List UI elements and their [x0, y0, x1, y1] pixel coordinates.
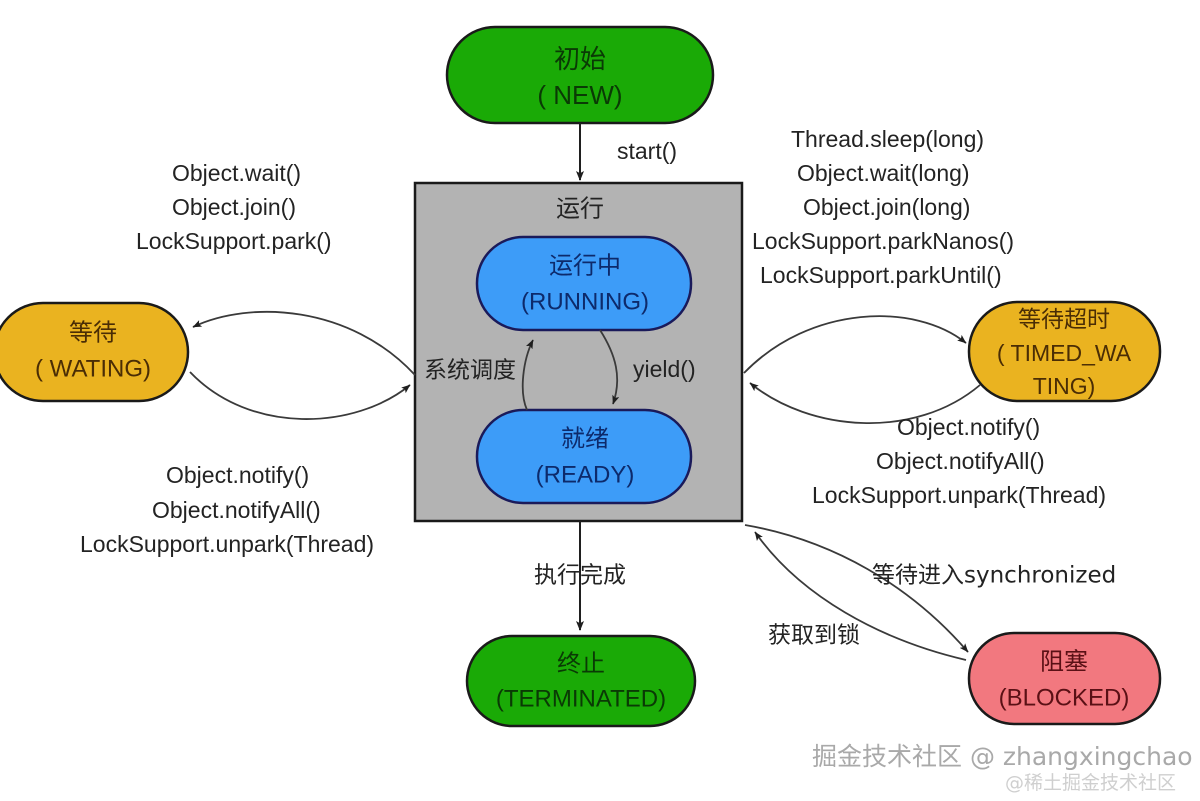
node-terminated[interactable]: 终止 (TERMINATED) [467, 636, 695, 726]
watermark-primary: 掘金技术社区 @ zhangxingchao [812, 742, 1193, 771]
edge-to-timed-label-5: LockSupport.parkUntil() [760, 262, 1002, 288]
edge-scheduler-label: 系统调度 [424, 358, 516, 384]
edge-from-timed-label-2: Object.notifyAll() [876, 448, 1045, 474]
node-blocked[interactable]: 阻塞 (BLOCKED) [969, 633, 1160, 724]
edge-from-waiting-label-3: LockSupport.unpark(Thread) [80, 531, 374, 557]
edge-start: start() [580, 123, 677, 180]
node-ready[interactable]: 就绪 (READY) [477, 410, 691, 503]
edge-to-waiting-label-1: Object.wait() [172, 160, 301, 186]
node-timed-waiting[interactable]: 等待超时 ( TIMED_WA TING) [969, 302, 1160, 401]
edge-to-waiting-path [193, 312, 415, 375]
edge-from-timed-label-1: Object.notify() [897, 414, 1040, 440]
node-running[interactable]: 运行中 (RUNNING) [477, 237, 691, 330]
node-new-shape [447, 27, 713, 123]
edge-finish: 执行完成 [534, 521, 626, 630]
edge-to-waiting-label-3: LockSupport.park() [136, 228, 332, 254]
edge-finish-label: 执行完成 [534, 563, 626, 589]
node-new[interactable]: 初始 ( NEW) [447, 27, 713, 123]
node-timed-waiting-shape [969, 302, 1160, 401]
edge-from-waiting-path [190, 372, 410, 419]
edge-to-timed-label-2: Object.wait(long) [797, 160, 970, 186]
edge-from-blocked-label: 获取到锁 [768, 623, 860, 649]
edge-to-timed-label-3: Object.join(long) [803, 194, 970, 220]
edge-from-waiting-label-2: Object.notifyAll() [152, 497, 321, 523]
edge-yield-label: yield() [633, 356, 696, 382]
edge-to-blocked-label: 等待进入synchronized [872, 563, 1116, 589]
edge-to-timed-waiting-path [744, 316, 966, 373]
watermark-secondary: @稀土掘金技术社区 [1005, 772, 1176, 794]
edge-to-waiting-label-2: Object.join() [172, 194, 296, 220]
diagram-canvas: 初始 ( NEW) start() 运行 运行中 (RUNNING) 就绪 (R… [0, 0, 1200, 801]
thread-state-diagram: 初始 ( NEW) start() 运行 运行中 (RUNNING) 就绪 (R… [0, 0, 1200, 801]
node-ready-shape [477, 410, 691, 503]
edge-to-timed-label-4: LockSupport.parkNanos() [752, 228, 1014, 254]
edge-to-timed-label-1: Thread.sleep(long) [791, 126, 984, 152]
edge-from-blocked: 获取到锁 [755, 532, 966, 660]
node-waiting-shape [0, 303, 188, 401]
edge-start-label: start() [617, 138, 677, 164]
edge-from-timed-label-3: LockSupport.unpark(Thread) [812, 482, 1106, 508]
edge-from-waiting-label-1: Object.notify() [166, 462, 309, 488]
node-blocked-shape [969, 633, 1160, 724]
node-running-shape [477, 237, 691, 330]
node-terminated-shape [467, 636, 695, 726]
node-waiting[interactable]: 等待 ( WATING) [0, 303, 188, 401]
